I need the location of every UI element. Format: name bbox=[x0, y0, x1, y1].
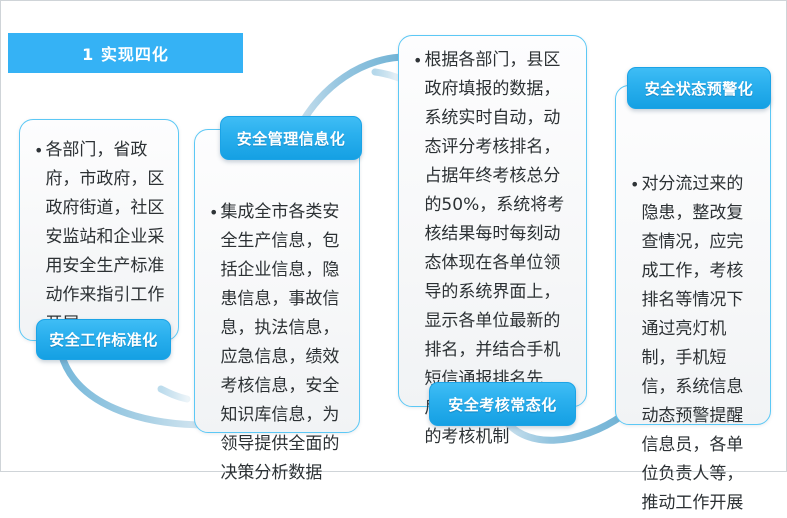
card-description: 集成全市各类安全生产信息，包括企业信息，隐患信息，事故信息，执法信息，应急信息，… bbox=[220, 198, 347, 488]
card-badge-label: 安全管理信息化 bbox=[237, 128, 346, 149]
bullet-marker: • bbox=[630, 170, 639, 199]
card-description: 对分流过来的隐患，整改复查情况，应完成工作，考核排名等情况下通过亮灯机制，手机短… bbox=[641, 170, 758, 518]
card-badge-standardization[interactable]: 安全工作标准化 bbox=[36, 319, 171, 360]
concept-card-assessment-normalization[interactable]: • 根据各部门，县区政府填报的数据，系统实时自动，动态评分考核排名，占据年终考核… bbox=[398, 35, 587, 407]
section-title-text: 1 实现四化 bbox=[82, 41, 169, 65]
card-badge-label: 安全考核常态化 bbox=[448, 394, 557, 415]
connector-tail-card3 bbox=[375, 72, 399, 78]
card-badge-label: 安全工作标准化 bbox=[49, 329, 158, 350]
bullet-marker: • bbox=[209, 198, 218, 227]
connector-1-2 bbox=[61, 353, 207, 425]
concept-card-management-informatization[interactable]: • 集成全市各类安全生产信息，包括企业信息，隐患信息，事故信息，执法信息，应急信… bbox=[194, 129, 360, 433]
card-body: • 各部门，省政府，市政府，区政府街道，社区安监站和企业采用安全生产标准动作来指… bbox=[20, 136, 178, 339]
card-body: • 对分流过来的隐患，整改复查情况，应完成工作，考核排名等情况下通过亮灯机制，手… bbox=[616, 170, 770, 518]
card-body: • 集成全市各类安全生产信息，包括企业信息，隐患信息，事故信息，执法信息，应急信… bbox=[195, 198, 359, 488]
card-badge-management-informatization[interactable]: 安全管理信息化 bbox=[220, 116, 362, 160]
card-badge-status-early-warning[interactable]: 安全状态预警化 bbox=[627, 67, 771, 109]
concept-card-status-early-warning[interactable]: • 对分流过来的隐患，整改复查情况，应完成工作，考核排名等情况下通过亮灯机制，手… bbox=[615, 85, 771, 425]
card-badge-label: 安全状态预警化 bbox=[645, 78, 754, 99]
bullet-marker: • bbox=[34, 136, 43, 165]
card-badge-assessment-normalization[interactable]: 安全考核常态化 bbox=[429, 382, 576, 426]
section-title-banner: 1 实现四化 bbox=[8, 33, 243, 73]
diagram-canvas: 1 实现四化 • 各部门，省政府，市政府，区政府街道，社区安监站和企业采用安全生… bbox=[0, 0, 787, 472]
concept-card-standardization[interactable]: • 各部门，省政府，市政府，区政府街道，社区安监站和企业采用安全生产标准动作来指… bbox=[19, 119, 179, 341]
card-description: 各部门，省政府，市政府，区政府街道，社区安监站和企业采用安全生产标准动作来指引工… bbox=[45, 136, 166, 339]
connector-tail-left bbox=[161, 389, 187, 399]
bullet-marker: • bbox=[413, 46, 422, 75]
